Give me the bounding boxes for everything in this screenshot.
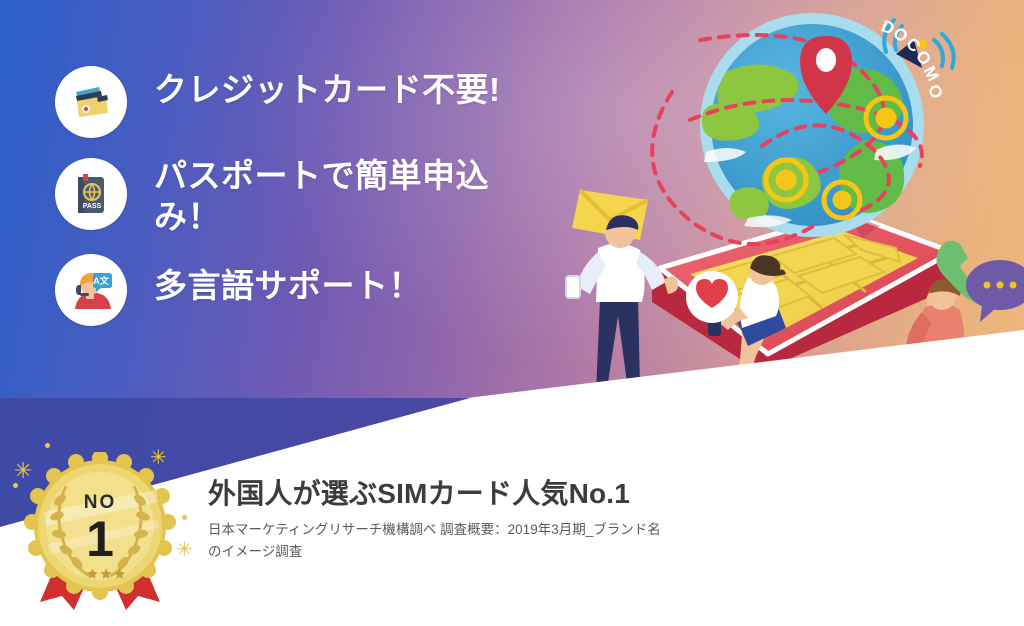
feature-label: パスポートで簡単申込み！ (154, 152, 544, 238)
badge-rank-label: NO (84, 492, 117, 513)
award-subtitle: 日本マーケティングリサーチ機構調べ 調査概要：2019年3月期_ブランド名のイメ… (208, 519, 663, 563)
feature-label: 多言語サポート！ (154, 252, 422, 307)
feature-item-multilingual: A文 多言語サポート！ (55, 252, 575, 326)
badge-rank-number: 1 (86, 511, 114, 567)
translate-bubble-label: A文 (93, 275, 109, 286)
feature-list: クレジットカード不要! PASS パスポートで簡単申込み！ (55, 66, 575, 340)
award-badge-no1: NO 1 (18, 452, 183, 612)
award-title: 外国人が選ぶSIMカード人気No.1 (208, 479, 768, 510)
award-text-block: 外国人が選ぶSIMカード人気No.1 日本マーケティングリサーチ機構調べ 調査概… (208, 479, 768, 563)
feature-item-credit-card: クレジットカード不要! (55, 66, 575, 138)
sparkle-dot-icon (45, 443, 50, 448)
promo-banner: D O C O M O (0, 0, 1024, 626)
passport-icon: PASS (55, 158, 127, 230)
passport-label: PASS (83, 203, 102, 210)
credit-card-icon (55, 66, 127, 138)
feature-label: クレジットカード不要! (154, 66, 501, 111)
feature-item-passport: PASS パスポートで簡単申込み！ (55, 152, 575, 238)
multilingual-support-icon: A文 (55, 254, 127, 326)
